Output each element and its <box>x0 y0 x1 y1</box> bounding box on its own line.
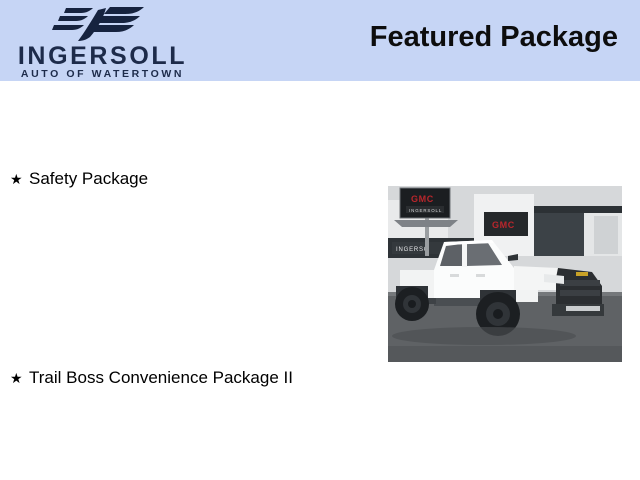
feature-label: Safety Package <box>29 170 148 187</box>
ingersoll-wing-emblem-icon <box>48 6 156 42</box>
dealer-logo: INGERSOLL AUTO OF WATERTOWN <box>0 2 205 81</box>
page-header: INGERSOLL AUTO OF WATERTOWN Featured Pac… <box>0 0 640 81</box>
star-bullet-icon: ★ <box>10 172 29 186</box>
page-title: Featured Package <box>370 20 618 55</box>
dealer-tagline: AUTO OF WATERTOWN <box>0 69 205 80</box>
svg-text:GMC: GMC <box>492 220 515 230</box>
svg-text:INGERSOLL: INGERSOLL <box>409 208 442 213</box>
dealer-name: INGERSOLL <box>0 44 205 69</box>
svg-text:GMC: GMC <box>411 194 434 204</box>
main-content: ★ Safety Package ★ Trail Boss Convenienc… <box>0 81 640 480</box>
vehicle-photo: INGERSO GMC INGERSOLL GMC <box>388 186 622 362</box>
feature-label: Trail Boss Convenience Package II <box>29 369 293 386</box>
star-bullet-icon: ★ <box>10 371 29 385</box>
svg-text:INGERSO: INGERSO <box>396 247 429 253</box>
list-item: ★ Safety Package <box>10 170 148 187</box>
list-item: ★ Trail Boss Convenience Package II <box>10 369 293 386</box>
